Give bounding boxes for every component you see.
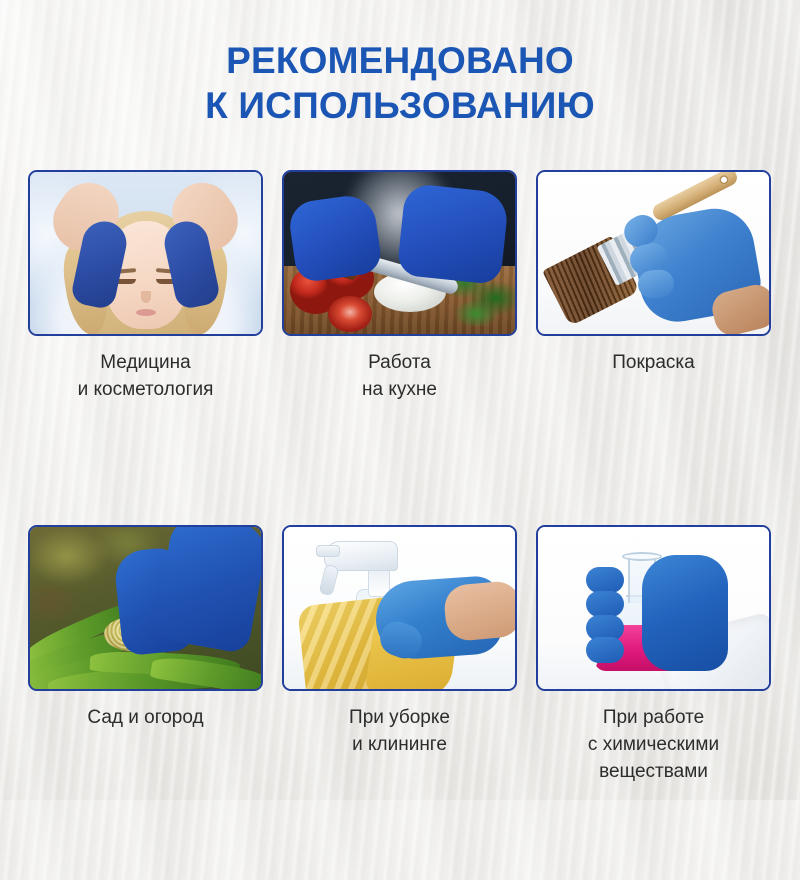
caption-line: Покраска — [536, 349, 771, 376]
mouth-shape — [136, 309, 156, 316]
spray-nozzle — [316, 545, 340, 557]
spray-trigger-lever — [319, 564, 340, 596]
usage-card-chemicals[interactable]: При работе с химическими веществами — [536, 525, 771, 785]
glove-finger — [586, 567, 624, 593]
kitchen-photo — [284, 172, 515, 334]
caption-line: и косметология — [28, 376, 263, 403]
usage-card-medicine[interactable]: Медицина и косметология — [28, 170, 263, 403]
cleaning-photo — [284, 527, 515, 689]
promo-page: РЕКОМЕНДОВАНО К ИСПОЛЬЗОВАНИЮ — [0, 0, 800, 800]
caption-line: При уборке — [282, 704, 517, 731]
caption-line: Работа — [282, 349, 517, 376]
blue-glove — [642, 555, 728, 671]
chemicals-photo — [538, 527, 769, 689]
caption-line: и клининге — [282, 731, 517, 758]
page-title-line-2: К ИСПОЛЬЗОВАНИЮ — [0, 83, 800, 128]
page-title: РЕКОМЕНДОВАНО К ИСПОЛЬЗОВАНИЮ — [0, 0, 800, 128]
tomato-half — [328, 296, 372, 332]
card-caption-garden: Сад и огород — [28, 691, 263, 731]
card-frame-painting — [536, 170, 771, 336]
usage-card-painting[interactable]: Покраска — [536, 170, 771, 403]
caption-line: Сад и огород — [28, 704, 263, 731]
caption-line: При работе — [536, 704, 771, 731]
usage-card-garden[interactable]: Сад и огород — [28, 525, 263, 785]
cosmetology-photo — [30, 172, 261, 334]
glove-finger — [586, 591, 624, 617]
blue-glove-right — [153, 527, 261, 654]
blue-glove-right — [396, 183, 509, 285]
caption-line: с химическими — [536, 731, 771, 758]
card-caption-kitchen: Работа на кухне — [282, 336, 517, 403]
card-frame-garden — [28, 525, 263, 691]
card-frame-medicine — [28, 170, 263, 336]
painting-photo — [538, 172, 769, 334]
card-frame-cleaning — [282, 525, 517, 691]
card-frame-kitchen — [282, 170, 517, 336]
caption-line: Медицина — [28, 349, 263, 376]
usage-cards-grid: Медицина и косметология — [28, 170, 772, 785]
usage-card-kitchen[interactable]: Работа на кухне — [282, 170, 517, 403]
nose-shape — [141, 291, 151, 303]
caption-line: веществами — [536, 758, 771, 785]
card-caption-painting: Покраска — [536, 336, 771, 376]
glove-finger — [586, 637, 624, 663]
usage-card-cleaning[interactable]: При уборке и клининге — [282, 525, 517, 785]
flask-lip — [622, 552, 662, 561]
blue-glove-left — [287, 192, 383, 283]
card-caption-cleaning: При уборке и клининге — [282, 691, 517, 758]
card-caption-chemicals: При работе с химическими веществами — [536, 691, 771, 785]
forearm-skin — [443, 580, 515, 642]
card-caption-medicine: Медицина и косметология — [28, 336, 263, 403]
garden-photo — [30, 527, 261, 689]
page-title-line-1: РЕКОМЕНДОВАНО — [0, 38, 800, 83]
caption-line: на кухне — [282, 376, 517, 403]
card-frame-chemicals — [536, 525, 771, 691]
